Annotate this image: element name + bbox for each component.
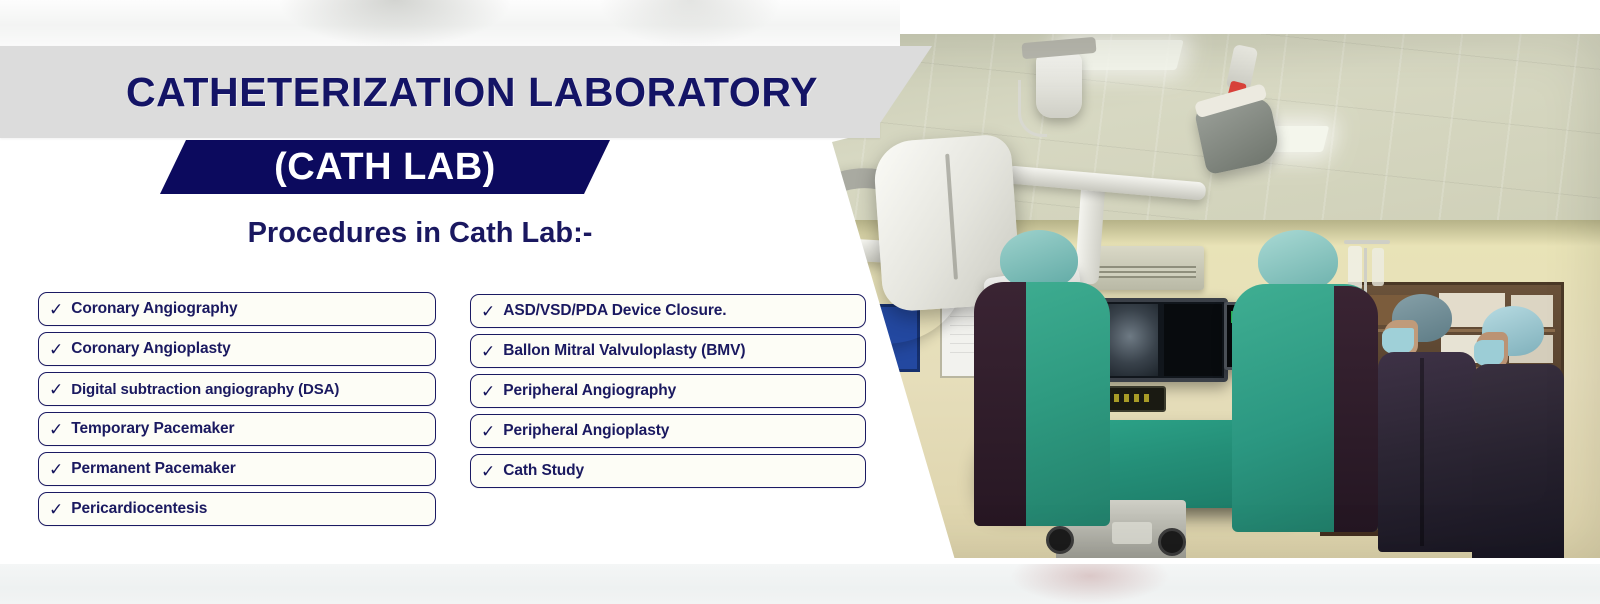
procedure-label: Permanent Pacemaker: [71, 460, 235, 478]
procedures-right-column: ✓ ASD/VSD/PDA Device Closure. ✓ Ballon M…: [470, 294, 866, 488]
check-icon: ✓: [49, 301, 63, 318]
lead-apron: [1378, 352, 1476, 552]
procedure-item[interactable]: ✓ ASD/VSD/PDA Device Closure.: [470, 294, 866, 328]
section-heading: Procedures in Cath Lab:-: [0, 212, 840, 254]
procedure-label: Cath Study: [503, 462, 584, 480]
staff-assistant-2: [1478, 306, 1574, 558]
procedure-item[interactable]: ✓ Cath Study: [470, 454, 866, 488]
procedure-label: Ballon Mitral Valvuloplasty (BMV): [503, 342, 745, 360]
check-icon: ✓: [49, 381, 63, 398]
table-wheel: [1046, 526, 1074, 554]
procedure-item[interactable]: ✓ Peripheral Angioplasty: [470, 414, 866, 448]
gown-shadow: [1334, 286, 1378, 532]
face-mask: [1382, 328, 1414, 354]
check-icon: ✓: [49, 501, 63, 518]
procedure-item[interactable]: ✓ Peripheral Angiography: [470, 374, 866, 408]
table-wheel: [1158, 528, 1186, 556]
bottom-band-blur: [1010, 564, 1170, 604]
procedure-label: Coronary Angioplasty: [71, 340, 230, 358]
check-icon: ✓: [49, 461, 63, 478]
check-icon: ✓: [49, 421, 63, 438]
procedure-label: Temporary Pacemaker: [71, 420, 234, 438]
surgical-cap: [1000, 230, 1078, 290]
banner-page: 106: [0, 0, 1600, 604]
check-icon: ✓: [481, 343, 495, 360]
procedures-left-column: ✓ Coronary Angiography ✓ Coronary Angiop…: [38, 292, 436, 526]
staff-surgeon-left: [1000, 230, 1120, 530]
procedure-item[interactable]: ✓ Pericardiocentesis: [38, 492, 436, 526]
procedure-label: Peripheral Angioplasty: [503, 422, 669, 440]
gown-shadow: [974, 282, 1026, 526]
check-icon: ✓: [481, 303, 495, 320]
page-title: CATHETERIZATION LABORATORY: [0, 46, 880, 138]
procedure-item[interactable]: ✓ Coronary Angiography: [38, 292, 436, 326]
procedure-label: Coronary Angiography: [71, 300, 237, 318]
top-strip-blur: [280, 0, 510, 46]
check-icon: ✓: [49, 341, 63, 358]
procedure-label: Peripheral Angiography: [503, 382, 676, 400]
staff-surgeon-right: [1250, 230, 1390, 530]
check-icon: ✓: [481, 423, 495, 440]
check-icon: ✓: [481, 383, 495, 400]
lead-apron: [1472, 364, 1564, 558]
procedure-item[interactable]: ✓ Permanent Pacemaker: [38, 452, 436, 486]
procedure-item[interactable]: ✓ Temporary Pacemaker: [38, 412, 436, 446]
check-icon: ✓: [481, 463, 495, 480]
surgical-cap: [1258, 230, 1338, 292]
procedure-label: Pericardiocentesis: [71, 500, 207, 518]
procedure-item[interactable]: ✓ Coronary Angioplasty: [38, 332, 436, 366]
procedure-item[interactable]: ✓ Digital subtraction angiography (DSA): [38, 372, 436, 406]
subtitle-banner-label: (CATH LAB): [160, 140, 610, 194]
procedure-item[interactable]: ✓ Ballon Mitral Valvuloplasty (BMV): [470, 334, 866, 368]
procedure-label: ASD/VSD/PDA Device Closure.: [503, 302, 726, 320]
procedure-label: Digital subtraction angiography (DSA): [71, 381, 339, 398]
secondary-screen: [1164, 304, 1222, 376]
staff-assistant-1: [1386, 294, 1486, 556]
face-mask: [1474, 340, 1504, 366]
top-strip: [0, 0, 900, 46]
top-strip-blur: [600, 0, 780, 46]
bottom-band: [0, 564, 1600, 604]
